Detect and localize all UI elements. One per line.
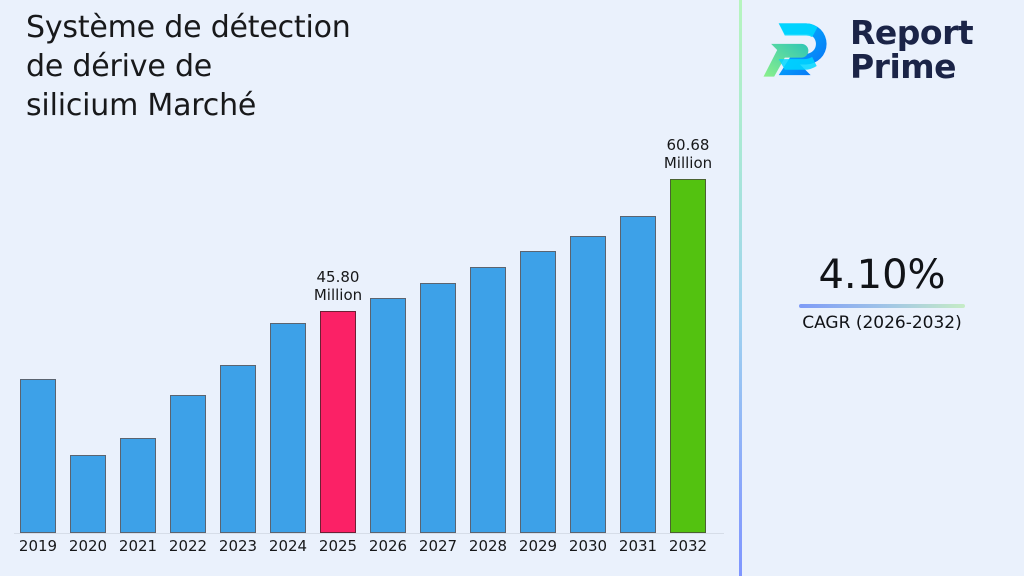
x-axis-tick-2023: 2023	[210, 537, 266, 555]
bar-chart-plot: 201920202021202220232024202545.80 Millio…	[0, 0, 740, 576]
cagr-caption: CAGR (2026-2032)	[740, 313, 1024, 334]
x-axis-tick-2032: 2032	[660, 537, 716, 555]
x-axis-tick-2024: 2024	[260, 537, 316, 555]
bar-2029	[520, 251, 556, 533]
bar-2024	[270, 323, 306, 533]
infographic-page: Système de détection de dérive de silici…	[0, 0, 1024, 576]
bar-2028	[470, 267, 506, 533]
brand-panel: Report Prime 4.10% CAGR (2026-2032)	[740, 0, 1024, 576]
x-axis-tick-2026: 2026	[360, 537, 416, 555]
x-axis-tick-2019: 2019	[10, 537, 66, 555]
x-axis-tick-2025: 2025	[310, 537, 366, 555]
brand-name: Report Prime	[850, 16, 973, 84]
x-axis-line	[14, 533, 724, 534]
brand-logo: Report Prime	[762, 12, 973, 88]
x-axis-tick-2031: 2031	[610, 537, 666, 555]
cagr-block: 4.10% CAGR (2026-2032)	[740, 252, 1024, 334]
bar-2030	[570, 236, 606, 533]
bar-2021	[120, 438, 156, 533]
bar-2031	[620, 216, 656, 533]
bar-2022	[170, 395, 206, 533]
bar-2026	[370, 298, 406, 533]
x-axis-tick-2020: 2020	[60, 537, 116, 555]
cagr-divider-rule	[799, 304, 965, 308]
chart-panel: Système de détection de dérive de silici…	[0, 0, 740, 576]
x-axis-tick-2030: 2030	[560, 537, 616, 555]
bar-2027	[420, 283, 456, 533]
bar-2019	[20, 379, 56, 533]
x-axis-tick-2022: 2022	[160, 537, 216, 555]
bar-2023	[220, 365, 256, 533]
cagr-value: 4.10%	[740, 252, 1024, 298]
x-axis-tick-2028: 2028	[460, 537, 516, 555]
x-axis-tick-2027: 2027	[410, 537, 466, 555]
bar-2020	[70, 455, 106, 533]
bar-value-label-2032: 60.68 Million	[628, 136, 748, 172]
report-prime-logo-icon	[762, 12, 838, 88]
bar-2025	[320, 311, 356, 533]
bar-2032	[670, 179, 706, 533]
x-axis-tick-2029: 2029	[510, 537, 566, 555]
x-axis-tick-2021: 2021	[110, 537, 166, 555]
